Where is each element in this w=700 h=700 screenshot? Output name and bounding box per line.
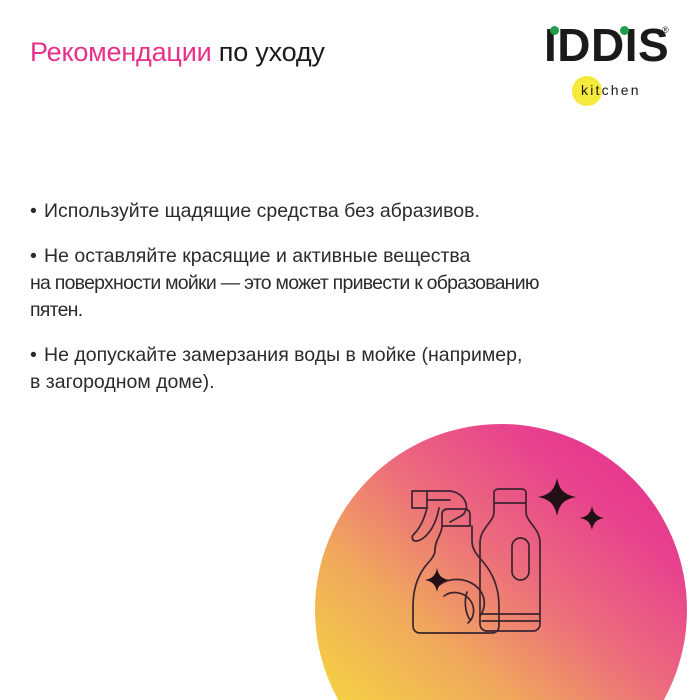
list-item-line: Не допускайте замерзания воды в мойке (н… [44, 344, 522, 366]
list-item-line: на поверхности мойки — это может привест… [30, 270, 675, 297]
spray-bottle-icon [412, 491, 499, 633]
sparkle-small-icon [580, 506, 604, 530]
cleaning-products-illustration [408, 468, 638, 683]
list-item: •Не оставляйте красящие и активные вещес… [30, 243, 675, 324]
list-item-line: в загородном доме). [30, 369, 675, 396]
bullet-marker: • [30, 243, 44, 270]
page-title-plain: по уходу [211, 37, 324, 67]
bullet-marker: • [30, 198, 44, 225]
list-item-line: Используйте щадящие средства без абразив… [44, 200, 480, 222]
sparkle-left-icon [425, 568, 449, 592]
list-item: •Не допускайте замерзания воды в мойке (… [30, 342, 675, 396]
logo-sub-label: kitchen [581, 83, 641, 98]
list-item-line: пятен. [30, 297, 675, 324]
slide-canvas: Рекомендации по уходу IDDIS ® kitchen •И… [0, 0, 700, 700]
list-item-line: Не оставляйте красящие и активные вещест… [44, 245, 470, 267]
page-title: Рекомендации по уходу [30, 37, 325, 68]
logo-green-dot-icon [550, 26, 559, 35]
registered-trademark-icon: ® [662, 26, 669, 35]
logo-wordmark: IDDIS [544, 22, 669, 68]
logo-green-dot-icon [620, 26, 629, 35]
page-title-accent: Рекомендации [30, 37, 211, 67]
list-item: •Используйте щадящие средства без абрази… [30, 198, 675, 225]
brand-logo: IDDIS ® kitchen [540, 22, 680, 104]
sparkle-large-icon [538, 478, 576, 516]
detergent-bottle-icon [480, 489, 540, 631]
bullet-marker: • [30, 342, 44, 369]
care-recommendations-list: •Используйте щадящие средства без абрази… [30, 198, 675, 413]
